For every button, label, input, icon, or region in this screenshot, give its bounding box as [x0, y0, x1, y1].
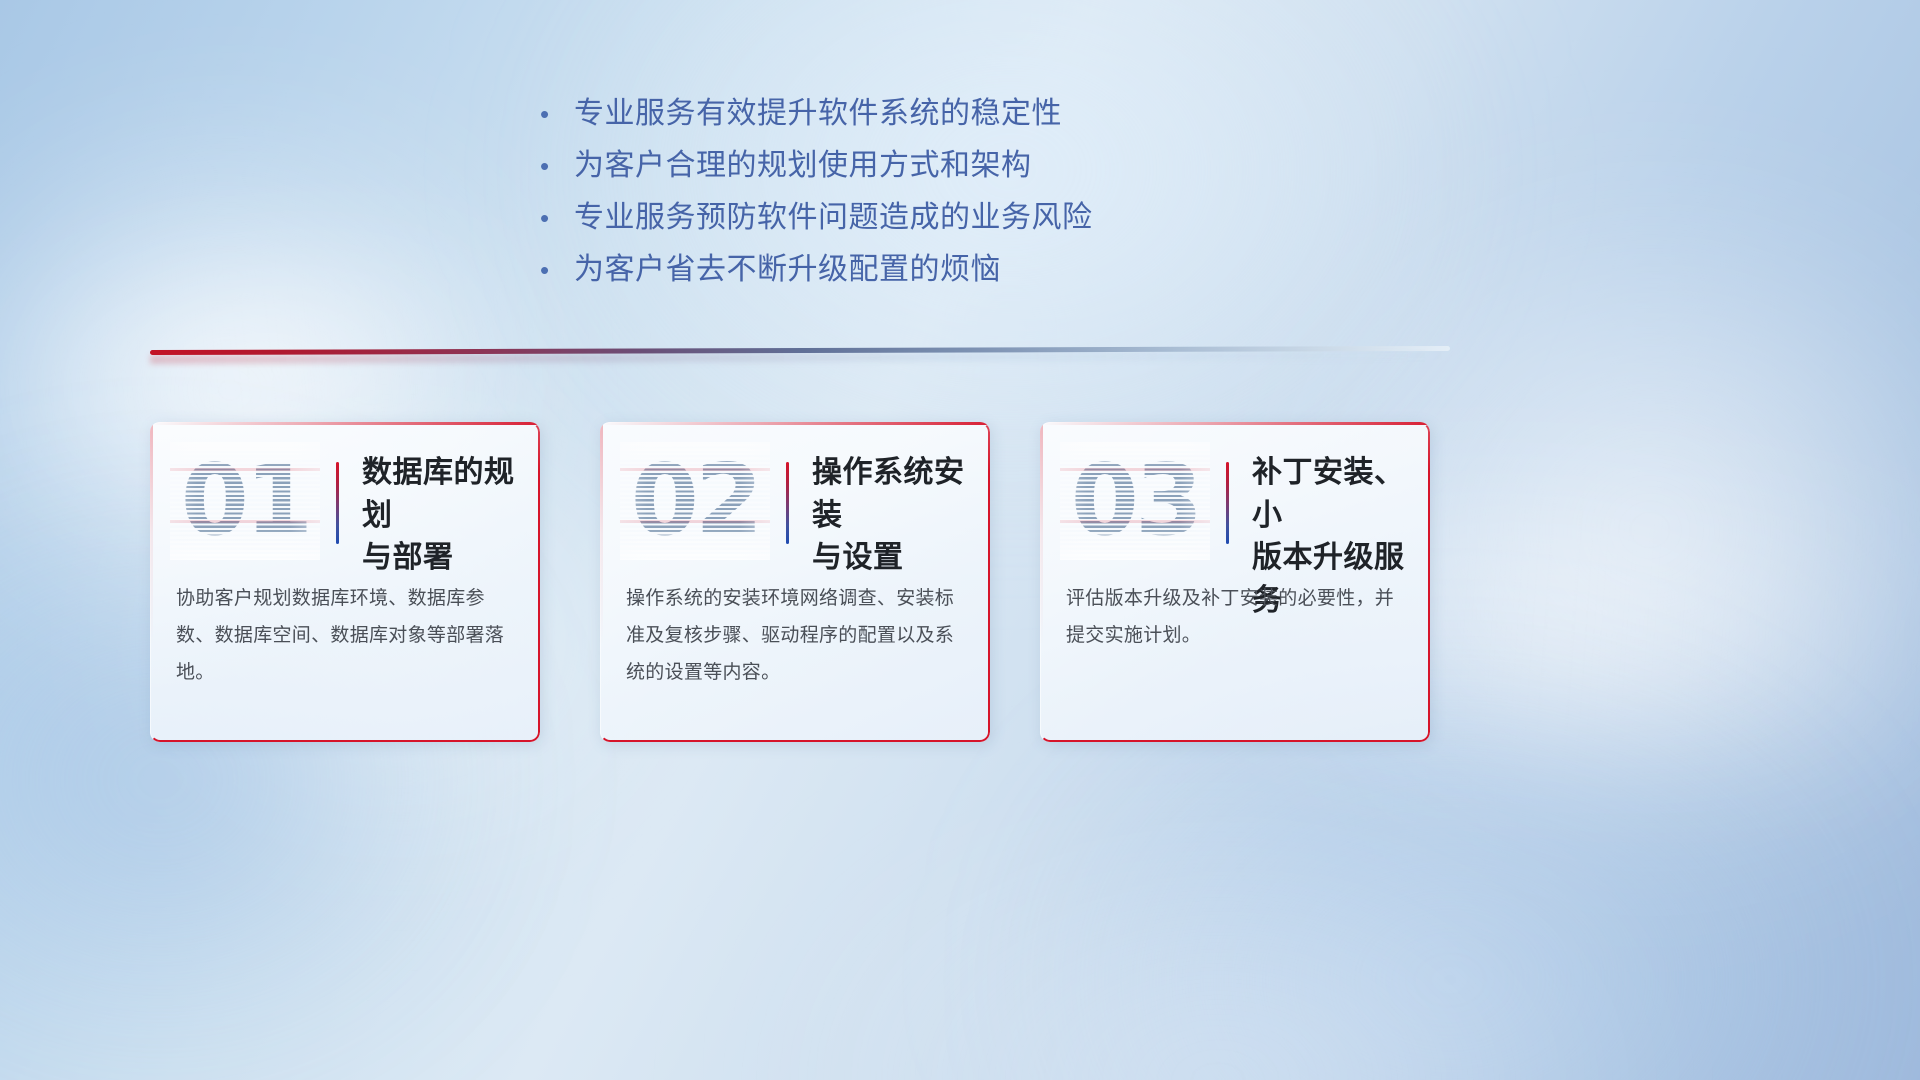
bullet-text: 专业服务有效提升软件系统的稳定性 [574, 88, 1062, 132]
benefits-bullet-list: • 专业服务有效提升软件系统的稳定性 • 为客户合理的规划使用方式和架构 • 专… [540, 88, 1260, 296]
list-item: • 专业服务有效提升软件系统的稳定性 [540, 88, 1260, 140]
service-cards: 01 数据库的规划 与部署 协助客户规划数据库环境、数据库参数、数据库空间、数据… [150, 422, 1450, 742]
service-card-02[interactable]: 02 操作系统安装 与设置 操作系统的安装环境网络调查、安装标准及复核步骤、驱动… [600, 422, 990, 742]
card-title-line-1: 操作系统安装 [812, 452, 972, 537]
card-title: 操作系统安装 与设置 [812, 452, 972, 580]
bullet-dot-icon: • [540, 153, 574, 179]
card-title-line-2: 与部署 [362, 537, 522, 580]
bullet-text: 为客户合理的规划使用方式和架构 [574, 140, 1032, 184]
service-card-01[interactable]: 01 数据库的规划 与部署 协助客户规划数据库环境、数据库参数、数据库空间、数据… [150, 422, 540, 742]
card-title: 数据库的规划 与部署 [362, 452, 522, 580]
card-number-watermark: 02 [620, 442, 770, 560]
card-divider-bar [336, 462, 339, 544]
bullet-dot-icon: • [540, 101, 574, 127]
card-title-line-1: 数据库的规划 [362, 452, 522, 537]
card-body-text: 协助客户规划数据库环境、数据库参数、数据库空间、数据库对象等部署落地。 [176, 580, 518, 691]
card-title-line-1: 补丁安装、小 [1252, 452, 1412, 537]
bullet-text: 为客户省去不断升级配置的烦恼 [574, 244, 1001, 288]
card-accent-border-left [150, 422, 153, 742]
card-divider-bar [786, 462, 789, 544]
card-accent-border-top [1040, 422, 1430, 425]
list-item: • 为客户省去不断升级配置的烦恼 [540, 244, 1260, 296]
card-number-watermark: 01 [170, 442, 320, 560]
card-divider-bar [1226, 462, 1229, 544]
list-item: • 专业服务预防软件问题造成的业务风险 [540, 192, 1260, 244]
list-item: • 为客户合理的规划使用方式和架构 [540, 140, 1260, 192]
card-number-watermark: 03 [1060, 442, 1210, 560]
section-divider [150, 348, 1450, 362]
card-number-glyph: 03 [1060, 442, 1210, 560]
bullet-text: 专业服务预防软件问题造成的业务风险 [574, 192, 1093, 236]
service-card-03[interactable]: 03 补丁安装、小 版本升级服务 评估版本升级及补丁安装的必要性，并提交实施计划… [1040, 422, 1430, 742]
bullet-dot-icon: • [540, 257, 574, 283]
card-accent-border-top [150, 422, 540, 425]
card-number-glyph: 01 [170, 442, 320, 560]
card-body-text: 评估版本升级及补丁安装的必要性，并提交实施计划。 [1066, 580, 1408, 654]
card-accent-border-left [600, 422, 603, 742]
card-title-line-2: 与设置 [812, 537, 972, 580]
card-number-glyph: 02 [620, 442, 770, 560]
bullet-dot-icon: • [540, 205, 574, 231]
card-accent-border-top [600, 422, 990, 425]
card-accent-border-left [1040, 422, 1043, 742]
card-body-text: 操作系统的安装环境网络调查、安装标准及复核步骤、驱动程序的配置以及系统的设置等内… [626, 580, 968, 691]
